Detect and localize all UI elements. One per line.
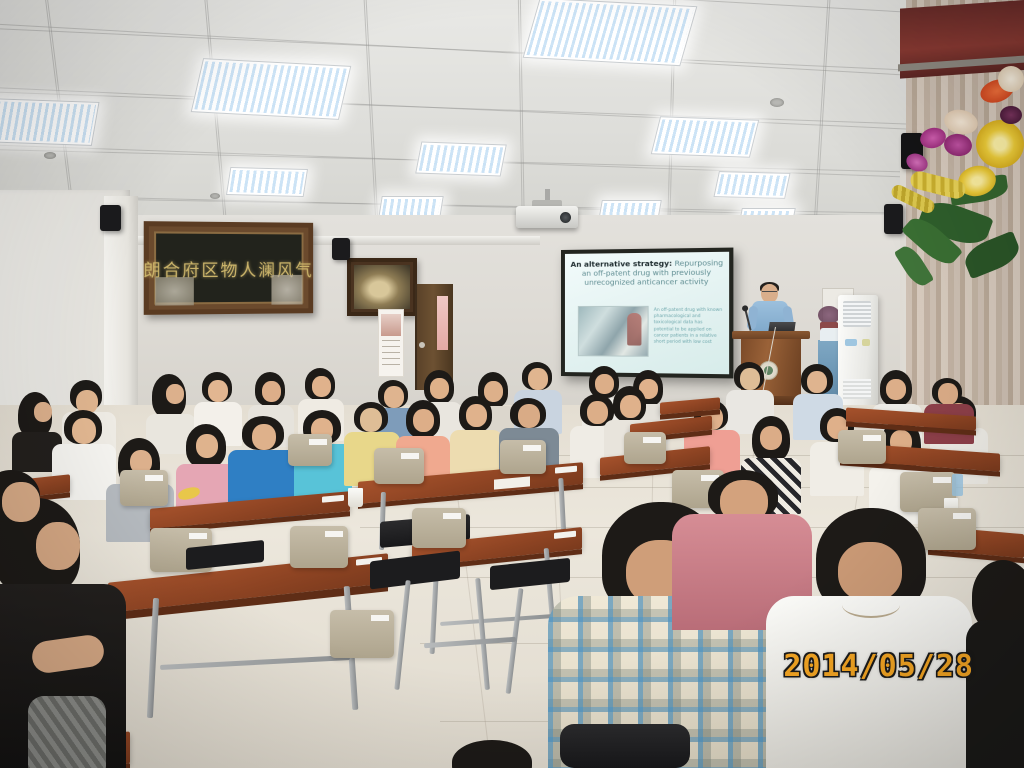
flower-arrangement: [884, 58, 1024, 318]
flower-cream: [998, 66, 1024, 92]
chair-back: [120, 470, 168, 506]
necklace: [842, 592, 900, 618]
ceiling-light-panel: [226, 167, 308, 197]
ceiling-light-panel: [415, 141, 507, 176]
ceiling-light-panel: [0, 98, 100, 146]
wall-speaker-icon: [332, 238, 350, 260]
projector-lens-icon: [560, 212, 571, 223]
ceiling-light-panel: [713, 171, 790, 199]
ceiling-vent: [44, 152, 56, 159]
flower-yellow: [976, 120, 1024, 168]
wall-speaker-icon: [100, 205, 121, 231]
chair-back: [412, 508, 466, 548]
chair-back: [288, 434, 332, 466]
flower-dark: [1000, 106, 1022, 124]
water-bottle: [952, 474, 963, 496]
chair-back: [500, 440, 546, 474]
ceiling-light-panel: [191, 58, 352, 120]
wall-poster: [378, 309, 404, 377]
slide-figure: [578, 306, 649, 357]
ceiling-projector: [516, 206, 578, 228]
ceiling-light-panel: [523, 0, 698, 66]
flower-purple: [943, 132, 974, 158]
projection-screen: An alternative strategy: Repurposing an …: [561, 248, 733, 379]
audience-person-foreground: [972, 560, 1024, 768]
flower-cream: [942, 107, 980, 138]
paper-cup: [348, 488, 363, 507]
audience-person-foreground: [0, 470, 62, 560]
ceiling-light-panel: [651, 116, 760, 157]
backpack: [560, 724, 690, 768]
ceiling-vent: [770, 98, 784, 107]
chair-back: [374, 448, 424, 484]
camera-date-stamp: 2014/05/28: [783, 649, 974, 684]
glasses-icon: [762, 291, 777, 295]
framed-picture: [347, 258, 417, 316]
door-knob[interactable]: [419, 342, 425, 348]
presentation-slide: An alternative strategy: Repurposing an …: [565, 252, 729, 374]
audience-person-foreground: [776, 508, 966, 768]
ac-grill: [843, 301, 871, 327]
ac-display-panel: [845, 339, 857, 346]
slide-bullet-text: An off-patent drug with known pharmacolo…: [654, 308, 723, 347]
ac-button-panel[interactable]: [862, 339, 870, 346]
chair-back: [838, 430, 886, 464]
door-glass-panel: [437, 296, 448, 350]
slide-title: An alternative strategy: Repurposing an …: [570, 258, 724, 287]
lecture-hall-photo: 朗合府区物人澜风气 An alternative strategy: Repur…: [0, 0, 1024, 768]
ceiling-vent: [210, 193, 220, 199]
chair-back: [330, 610, 394, 658]
calligraphy-plaque: 朗合府区物人澜风气: [144, 221, 313, 315]
air-conditioner: [838, 295, 878, 405]
trouser: [28, 696, 106, 768]
chair-back: [290, 526, 348, 568]
audience-person-foreground: [452, 740, 542, 768]
chair-back: [624, 432, 666, 464]
audience-person: [452, 396, 500, 474]
ceiling-tile-grid: [0, 0, 1024, 250]
